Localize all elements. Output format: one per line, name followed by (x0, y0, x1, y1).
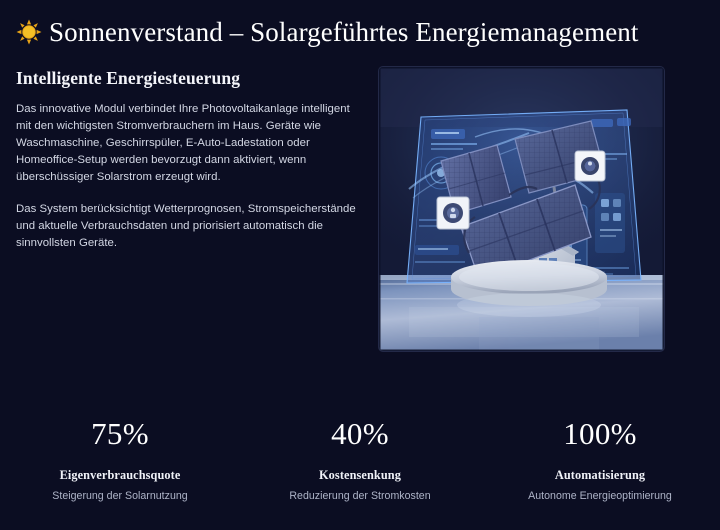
stat-sublabel: Steigerung der Solarnutzung (0, 489, 240, 504)
section-subheading: Intelligente Energiesteuerung (16, 67, 356, 89)
stat-sublabel: Reduzierung der Stromkosten (240, 489, 480, 504)
stat-label: Automatisierung (480, 467, 720, 484)
stat-sublabel: Autonome Energieoptimierung (480, 489, 720, 504)
image-column (366, 67, 704, 351)
content-row: Intelligente Energiesteuerung Das innova… (0, 67, 720, 351)
stat-value: 100% (480, 415, 720, 453)
page-title: Sonnenverstand – Solargeführtes Energiem… (16, 14, 698, 51)
stat-value: 75% (0, 415, 240, 453)
stat-value: 40% (240, 415, 480, 453)
stat-item-automatisierung: 100% Automatisierung Autonome Energieopt… (480, 415, 720, 504)
stat-label: Eigenverbrauchsquote (0, 467, 240, 484)
stat-label: Kostensenkung (240, 467, 480, 484)
solar-energy-management-image (379, 67, 664, 351)
page-title-text: Sonnenverstand – Solargeführtes Energiem… (49, 17, 639, 47)
sun-icon (16, 19, 42, 45)
body-paragraph-2: Das System berücksichtigt Wetterprognose… (16, 201, 356, 252)
slide-header: Sonnenverstand – Solargeführtes Energiem… (0, 0, 720, 51)
stats-row: 75% Eigenverbrauchsquote Steigerung der … (0, 415, 720, 504)
slide-root: { "theme": { "background": "#0b0d22", "h… (0, 0, 720, 530)
body-paragraph-1: Das innovative Modul verbindet Ihre Phot… (16, 101, 356, 186)
text-column: Intelligente Energiesteuerung Das innova… (16, 67, 366, 252)
illustration-scene (379, 67, 664, 351)
stat-item-kostensenkung: 40% Kostensenkung Reduzierung der Stromk… (240, 415, 480, 504)
stat-item-eigenverbrauchsquote: 75% Eigenverbrauchsquote Steigerung der … (0, 415, 240, 504)
